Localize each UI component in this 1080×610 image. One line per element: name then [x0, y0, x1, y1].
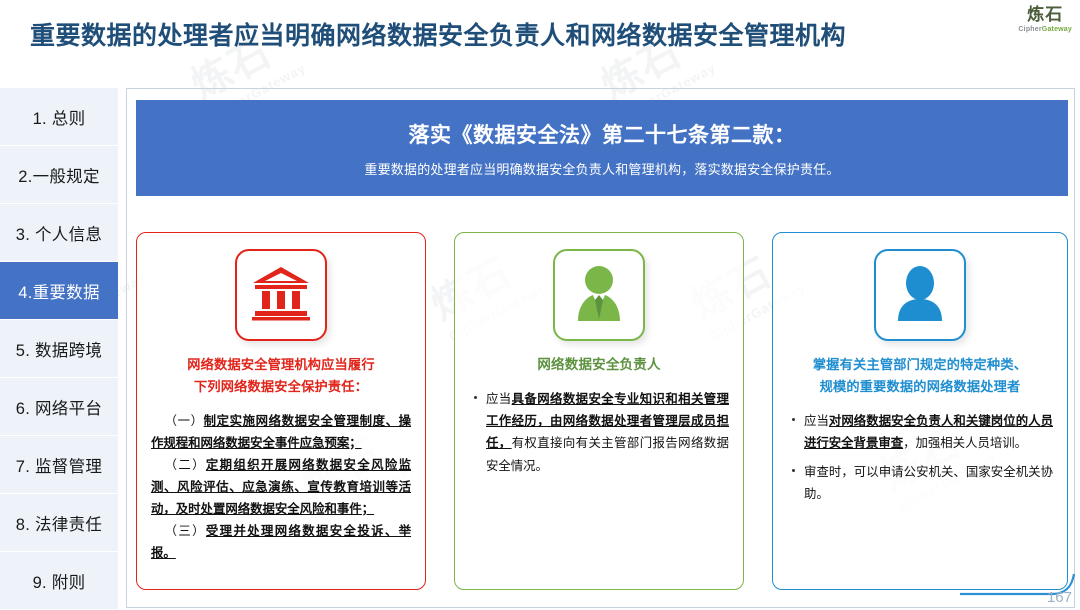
logo-english-text: CipherGateway [1018, 26, 1072, 33]
sidebar-item-label: 8. 法律责任 [16, 511, 102, 535]
bullet-lead: 应当 [804, 414, 829, 428]
card-heading-line-2: 规模的重要数据的网络数据处理者 [787, 376, 1053, 398]
card-body: （一）制定实施网络数据安全管理制度、操作规程和网络数据安全事件应急预案； （二）… [151, 410, 411, 565]
card-management-institution: 网络数据安全管理机构应当履行 下列网络数据安全保护责任： （一）制定实施网络数据… [136, 232, 426, 590]
card-security-officer: 网络数据安全负责人 应当具备网络数据安全专业知识和相关管理工作经历，由网络数据处… [454, 232, 744, 590]
icon-container [235, 249, 327, 341]
card-heading-line-1: 网络数据安全管理机构应当履行 [151, 354, 411, 376]
sidebar-nav: 1. 总则2.一般规定3. 个人信息4.重要数据5. 数据跨境6. 网络平台7.… [0, 88, 118, 610]
card-paragraph: （二）定期组织开展网络数据安全风险监测、风险评估、应急演练、宣传教育培训等活动，… [151, 454, 411, 520]
card-paragraph: （一）制定实施网络数据安全管理制度、操作规程和网络数据安全事件应急预案； [151, 410, 411, 454]
user-silhouette-icon [891, 264, 949, 327]
card-body: 应当对网络数据安全负责人和关键岗位的人员进行安全背景审查，加强相关人员培训。 审… [787, 410, 1053, 505]
card-heading: 掌握有关主管部门规定的特定种类、 规模的重要数据的网络数据处理者 [787, 354, 1053, 398]
person-with-tie-icon [568, 263, 630, 328]
sidebar-item-7[interactable]: 7. 监督管理 [0, 436, 118, 494]
bullet-plain: 审查时，可以申请公安机关、国家安全机关协助。 [804, 465, 1053, 501]
page-title: 重要数据的处理者应当明确网络数据安全负责人和网络数据安全管理机构 [30, 16, 846, 52]
icon-container [874, 249, 966, 341]
paragraph-prefix: （一） [165, 414, 204, 428]
list-item: 审查时，可以申请公安机关、国家安全机关协助。 [804, 461, 1053, 505]
bullet-plain: 有权直接向有关主管部门报告网络数据安全情况。 [486, 436, 729, 472]
page-number: 167 [1047, 589, 1072, 606]
sidebar-item-9[interactable]: 9. 附则 [0, 552, 118, 610]
banner-subtitle: 重要数据的处理者应当明确数据安全负责人和管理机构，落实数据安全保护责任。 [364, 159, 839, 178]
card-data-processor: 掌握有关主管部门规定的特定种类、 规模的重要数据的网络数据处理者 应当对网络数据… [772, 232, 1068, 590]
sidebar-item-label: 2.一般规定 [18, 163, 100, 187]
sidebar-item-6[interactable]: 6. 网络平台 [0, 378, 118, 436]
sidebar-item-1[interactable]: 1. 总则 [0, 88, 118, 146]
logo-en-part2: Gateway [1042, 26, 1072, 33]
sidebar-item-label: 1. 总则 [33, 105, 86, 129]
sidebar-item-label: 3. 个人信息 [16, 221, 102, 245]
icon-container [553, 249, 645, 341]
paragraph-prefix: （三） [165, 524, 206, 538]
card-heading-line-1: 网络数据安全负责人 [469, 354, 729, 376]
brand-logo: 炼石 CipherGateway [1018, 6, 1072, 33]
card-paragraph: （三）受理并处理网络数据安全投诉、举报。 [151, 520, 411, 564]
card-heading-line-1: 掌握有关主管部门规定的特定种类、 [787, 354, 1053, 376]
sidebar-item-label: 9. 附则 [33, 569, 86, 593]
sidebar-item-8[interactable]: 8. 法律责任 [0, 494, 118, 552]
bullet-list: 应当具备网络数据安全专业知识和相关管理工作经历，由网络数据处理者管理层成员担任，… [469, 388, 729, 476]
sidebar-item-3[interactable]: 3. 个人信息 [0, 204, 118, 262]
sidebar-item-5[interactable]: 5. 数据跨境 [0, 320, 118, 378]
sidebar-item-4[interactable]: 4.重要数据 [0, 262, 118, 320]
bullet-lead: 应当 [486, 392, 512, 406]
list-item: 应当具备网络数据安全专业知识和相关管理工作经历，由网络数据处理者管理层成员担任，… [486, 388, 729, 476]
sidebar-item-label: 5. 数据跨境 [16, 337, 102, 361]
sidebar-item-label: 6. 网络平台 [16, 395, 102, 419]
page-header: 重要数据的处理者应当明确网络数据安全负责人和网络数据安全管理机构 炼石 Ciph… [0, 0, 1080, 70]
cards-row: 网络数据安全管理机构应当履行 下列网络数据安全保护责任： （一）制定实施网络数据… [136, 232, 1068, 590]
card-heading: 网络数据安全负责人 [469, 354, 729, 376]
law-reference-banner: 落实《数据安全法》第二十七条第二款： 重要数据的处理者应当明确数据安全负责人和管… [136, 100, 1068, 196]
banner-title: 落实《数据安全法》第二十七条第二款： [409, 119, 796, 149]
bullet-plain: ，加强相关人员培训。 [903, 436, 1027, 450]
logo-chinese-text: 炼石 [1018, 6, 1072, 23]
card-heading: 网络数据安全管理机构应当履行 下列网络数据安全保护责任： [151, 354, 411, 398]
sidebar-item-label: 4.重要数据 [18, 279, 100, 303]
bullet-list: 应当对网络数据安全负责人和关键岗位的人员进行安全背景审查，加强相关人员培训。 审… [787, 410, 1053, 505]
card-body: 应当具备网络数据安全专业知识和相关管理工作经历，由网络数据处理者管理层成员担任，… [469, 388, 729, 476]
sidebar-item-2[interactable]: 2.一般规定 [0, 146, 118, 204]
list-item: 应当对网络数据安全负责人和关键岗位的人员进行安全背景审查，加强相关人员培训。 [804, 410, 1053, 454]
paragraph-prefix: （二） [165, 458, 206, 472]
sidebar-item-label: 7. 监督管理 [16, 453, 102, 477]
bank-institution-icon [251, 265, 311, 326]
card-heading-line-2: 下列网络数据安全保护责任： [151, 376, 411, 398]
logo-en-part1: Cipher [1018, 26, 1041, 33]
